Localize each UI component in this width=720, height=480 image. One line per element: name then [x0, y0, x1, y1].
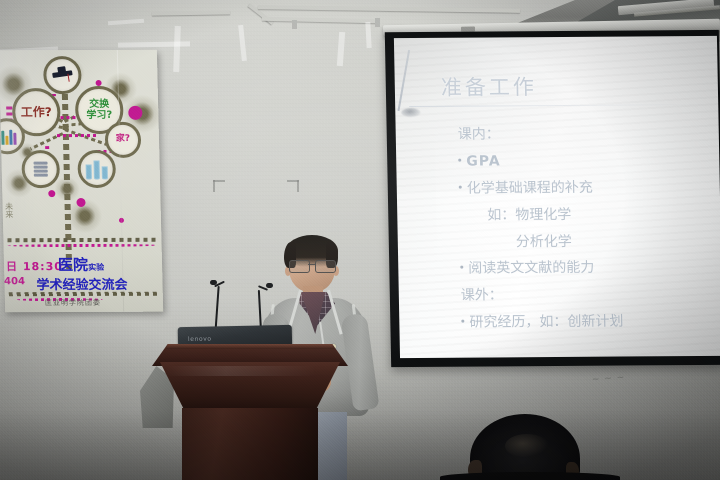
- slide-line-text: GPA: [466, 153, 501, 169]
- lectern: [152, 344, 348, 480]
- slide-title: 准备工作: [441, 71, 538, 102]
- poster-dot-divider: [8, 244, 158, 248]
- wall-corner-mark-left: [213, 180, 225, 192]
- poster-headline-main: 医院: [58, 256, 88, 274]
- poster-side-text: 未来: [3, 202, 14, 218]
- slide-line-text: 课内：: [458, 126, 500, 142]
- bullet-icon: [459, 185, 462, 188]
- slide-line-text: 阅读英文文献的能力: [468, 260, 594, 277]
- slide-pointer-dot: [401, 108, 420, 117]
- poster-subtitle: 学术经验交流会: [36, 274, 127, 293]
- poster-bubble-research: 家?: [105, 122, 142, 158]
- poster-banner: 日 18:30 /404 医院实验 学术经验交流会: [4, 246, 163, 295]
- poster-dot-divider: [9, 292, 159, 297]
- slide-line: 课内：: [458, 120, 712, 149]
- slide-line-text: 研究经历，如：创新计划: [469, 314, 623, 331]
- microphone-head-right: [266, 283, 273, 288]
- poster-bubble-work-label: 工作?: [21, 106, 52, 119]
- exchange-line2: 学习?: [86, 110, 112, 121]
- slide-pointer-line: [397, 50, 410, 111]
- lectern-base: [182, 408, 318, 480]
- slide-line: 阅读英文文献的能力: [460, 254, 714, 283]
- slide-line: GPA: [458, 147, 712, 176]
- slide-line: 分析化学: [516, 227, 714, 255]
- tassel-icon: [67, 73, 69, 81]
- poster-burst: [54, 176, 81, 202]
- presenter-vneck-trim: [283, 290, 343, 336]
- presenter-glasses: [288, 260, 336, 271]
- poster-bubble-books: [21, 150, 60, 188]
- audience-shoulders: [440, 472, 620, 480]
- slide-line-text: 化学基础课程的补充: [467, 179, 593, 196]
- slide-body: 课内：GPA化学基础课程的补充如：物理化学分析化学阅读英文文献的能力课外：研究经…: [458, 120, 715, 337]
- slide-line: 研究经历，如：创新计划: [461, 308, 715, 337]
- poster-organizer: 匡亚明学院团委: [45, 298, 101, 308]
- slide-title-rule: [409, 104, 709, 107]
- lenovo-logo: lenovo: [188, 335, 212, 342]
- slide-line: 课外：: [461, 281, 715, 310]
- projection-screen: 准备工作 课内：GPA化学基础课程的补充如：物理化学分析化学阅读英文文献的能力课…: [385, 30, 720, 367]
- bullet-icon: [458, 159, 461, 162]
- glasses-lens-right: [315, 260, 336, 273]
- slide-line-text: 如：物理化学: [487, 207, 571, 224]
- exchange-line1: 交换: [89, 98, 109, 109]
- glasses-bridge: [308, 264, 315, 265]
- books-row-icon: [0, 129, 17, 144]
- poster-accent-dot: [128, 106, 142, 120]
- poster-bubble-research-label: 家?: [116, 135, 130, 144]
- poster-dash-line: [57, 134, 97, 137]
- projection-screen-surface: 准备工作 课内：GPA化学基础课程的补充如：物理化学分析化学阅读英文文献的能力课…: [394, 36, 720, 358]
- audience-hair-highlight: [505, 434, 549, 458]
- poster-dot-divider: [7, 238, 157, 243]
- lecture-hall-photo: ~ ~ ~ 准备工作 课内：GPA化学基础课程的补充如：物理化学分析化学阅读英文…: [0, 0, 720, 480]
- poster-time: 日 18:30: [6, 258, 63, 274]
- poster-accent-dot: [76, 198, 85, 207]
- conduit-clip: [292, 20, 297, 29]
- poster-headline-sub: 实验: [88, 263, 104, 272]
- poster-accent-dot: [48, 190, 55, 197]
- bullet-icon: [461, 320, 464, 323]
- slide-line-text: 课外：: [461, 288, 503, 304]
- microphone-head-left: [210, 280, 217, 285]
- glasses-lens-left: [289, 260, 310, 273]
- slide-line: 如：物理化学: [487, 201, 713, 229]
- presentation-slide: 准备工作 课内：GPA化学基础课程的补充如：物理化学分析化学阅读英文文献的能力课…: [394, 36, 720, 358]
- poster-bubble-labware: [77, 150, 116, 188]
- book-stack-icon: [34, 162, 48, 177]
- wall-poster: 工作? 交换 学习? 家?: [0, 50, 163, 312]
- poster-room: /404: [0, 276, 25, 287]
- lectern-front-edge: [152, 344, 348, 349]
- poster-headline: 医院实验: [58, 254, 105, 275]
- lectern-highlight: [166, 366, 316, 376]
- test-tube-icon: [85, 160, 107, 179]
- slide-line: 化学基础课程的补充: [459, 174, 713, 203]
- bullet-icon: [460, 266, 463, 269]
- wall-corner-mark-right: [287, 180, 299, 192]
- graduation-cap-icon: [52, 70, 73, 78]
- slide-line-text: 分析化学: [516, 233, 572, 249]
- poster-bubble-graduation: [43, 56, 82, 94]
- conduit-clip: [375, 18, 380, 27]
- poster-bubble-exchange-label: 交换 学习?: [86, 98, 112, 121]
